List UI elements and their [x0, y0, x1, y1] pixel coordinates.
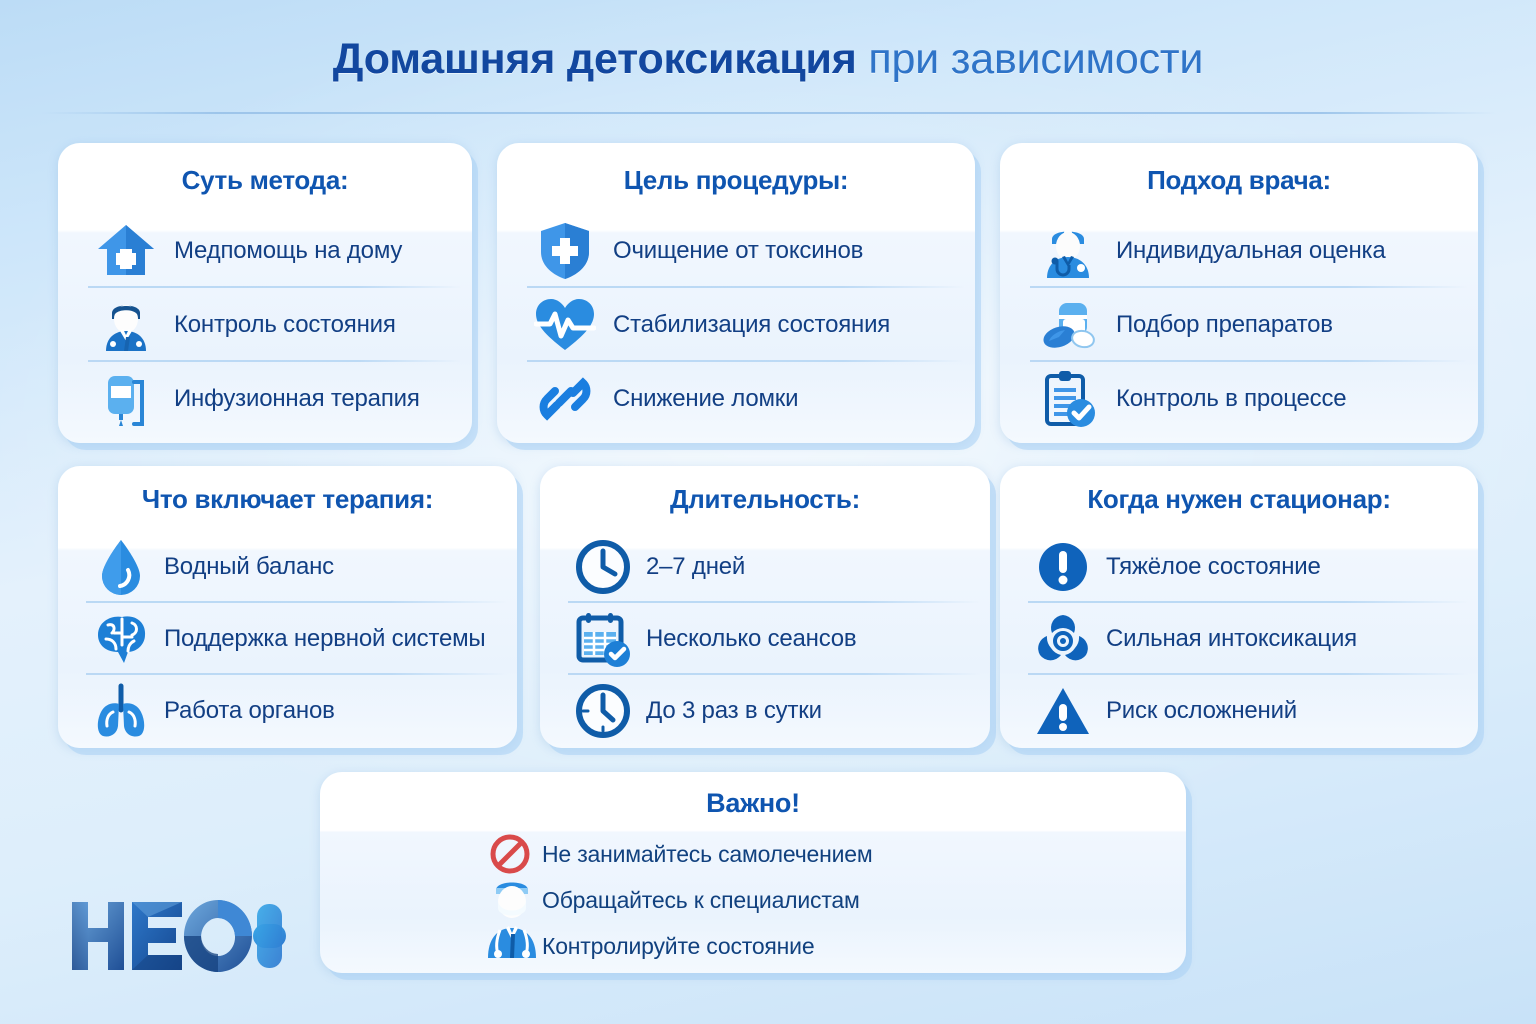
list-item: Тяжёлое состояние: [1028, 531, 1478, 603]
clock-icon: [568, 536, 638, 598]
list-item: Контроль в процессе: [1030, 362, 1478, 436]
heart-pulse-icon: [527, 292, 603, 358]
card-important-heading: Важно!: [320, 788, 1186, 819]
card-approach-heading: Подход врача:: [1000, 165, 1478, 196]
list-item-label: Подбор препаратов: [1116, 311, 1333, 339]
card-includes-list: Водный баланс: [58, 531, 517, 747]
card-important-list: Не занимайтесь самолечением Обращайтесь …: [320, 831, 1186, 969]
list-item-label: Очищение от токсинов: [613, 237, 863, 265]
list-item: Обращайтесь к специалистам: [484, 877, 1186, 923]
list-item: Стабилизация состояния: [527, 288, 975, 362]
card-duration-list: 2–7 дней: [540, 531, 990, 747]
card-inpatient-list: Тяжёлое состояние Сильная интокс: [1000, 531, 1478, 747]
card-essence-list: Медпомощь на дому Контрол: [58, 214, 472, 436]
list-item: Медпомощь на дому: [88, 214, 472, 288]
doctor-stethoscope-icon: [1030, 218, 1106, 284]
list-item-label: Несколько сеансов: [646, 625, 856, 653]
list-item-label: Сильная интоксикация: [1106, 625, 1357, 653]
list-item-label: Риск осложнений: [1106, 697, 1297, 725]
water-drop-icon: [86, 536, 156, 598]
list-item: Очищение от токсинов: [527, 214, 975, 288]
list-item: Контроль состояния: [88, 288, 472, 362]
list-item: Водный баланс: [86, 531, 517, 603]
list-item-label: Не занимайтесь самолечением: [542, 841, 872, 868]
brand-logo: [70, 898, 286, 974]
list-item: Инфузионная терапия: [88, 362, 472, 436]
card-important: Важно!: [320, 772, 1186, 973]
card-approach: Подход врача: Индивидуальная оценка: [1000, 143, 1478, 443]
clock-icon: [568, 680, 638, 742]
list-item: Работа органов: [86, 675, 517, 747]
exclamation-circle-icon: [1028, 536, 1098, 598]
card-goal: Цель процедуры: Очищение от токсинов: [497, 143, 975, 443]
doctor-masked-icon: [484, 872, 540, 958]
list-item-label: 2–7 дней: [646, 553, 745, 581]
title-divider: [40, 112, 1496, 114]
card-goal-heading: Цель процедуры:: [497, 165, 975, 196]
list-item-label: Инфузионная терапия: [174, 385, 420, 413]
prohibition-icon: [484, 831, 536, 877]
warning-triangle-icon: [1028, 680, 1098, 742]
card-essence-heading: Суть метода:: [58, 165, 472, 196]
list-item: До 3 раз в сутки: [568, 675, 990, 747]
card-inpatient: Когда нужен стационар: Тяжёлое состояние: [1000, 466, 1478, 748]
card-includes: Что включает терапия: Водный баланс: [58, 466, 517, 748]
card-includes-heading: Что включает терапия:: [58, 484, 517, 515]
list-item-label: Поддержка нервной системы: [164, 625, 485, 653]
home-medical-icon: [88, 218, 164, 284]
list-item-label: Обращайтесь к специалистам: [542, 887, 860, 914]
list-item-label: Контроль состояния: [174, 311, 396, 339]
list-item-label: Работа органов: [164, 697, 335, 725]
pills-icon: [1030, 292, 1106, 358]
card-duration: Длительность: 2–7 дней: [540, 466, 990, 748]
card-inpatient-heading: Когда нужен стационар:: [1000, 484, 1478, 515]
list-item: Снижение ломки: [527, 362, 975, 436]
list-item: Несколько сеансов: [568, 603, 990, 675]
list-item: Не занимайтесь самолечением: [484, 831, 1186, 877]
list-item: Контролируйте состояние: [484, 923, 1186, 969]
card-duration-heading: Длительность:: [540, 484, 990, 515]
list-item-label: До 3 раз в сутки: [646, 697, 822, 725]
brain-icon: [86, 608, 156, 670]
list-item-label: Стабилизация состояния: [613, 311, 890, 339]
card-essence: Суть метода: Медпомощь на дому: [58, 143, 472, 443]
clipboard-check-icon: [1030, 366, 1106, 432]
infographic-poster: Домашняя детоксикация при зависимости Су…: [0, 0, 1536, 1024]
list-item-label: Тяжёлое состояние: [1106, 553, 1321, 581]
shield-cross-icon: [527, 218, 603, 284]
list-item-label: Водный баланс: [164, 553, 334, 581]
list-item: Подбор препаратов: [1030, 288, 1478, 362]
lungs-icon: [86, 680, 156, 742]
biohazard-icon: [1028, 608, 1098, 670]
calendar-check-icon: [568, 608, 638, 670]
list-item-label: Контролируйте состояние: [542, 933, 814, 960]
list-item-label: Медпомощь на дому: [174, 237, 402, 265]
doctor-person-icon: [88, 292, 164, 358]
list-item: Индивидуальная оценка: [1030, 214, 1478, 288]
list-item-label: Индивидуальная оценка: [1116, 237, 1386, 265]
list-item: Сильная интоксикация: [1028, 603, 1478, 675]
card-goal-list: Очищение от токсинов Стабилизация состоя…: [497, 214, 975, 436]
list-item-label: Контроль в процессе: [1116, 385, 1346, 413]
list-item: Поддержка нервной системы: [86, 603, 517, 675]
list-item-label: Снижение ломки: [613, 385, 798, 413]
broken-chain-icon: [527, 366, 603, 432]
list-item: 2–7 дней: [568, 531, 990, 603]
list-item: Риск осложнений: [1028, 675, 1478, 747]
card-approach-list: Индивидуальная оценка Подбор препаратов: [1000, 214, 1478, 436]
page-title: Домашняя детоксикация при зависимости: [0, 36, 1536, 83]
iv-drip-icon: [88, 366, 164, 432]
page-title-strong: Домашняя детоксикация: [333, 35, 857, 83]
page-title-light: при зависимости: [857, 35, 1204, 83]
